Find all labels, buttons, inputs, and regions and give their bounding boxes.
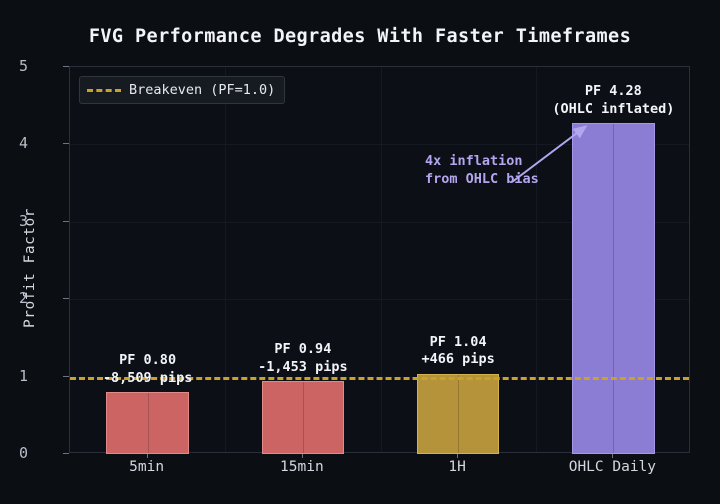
bar-label-pips: -1,453 pips <box>258 359 347 377</box>
bar-center-divider <box>303 382 304 453</box>
annotation-line-1: 4x inflation <box>425 152 539 170</box>
bar-label-5min: PF 0.80-8,509 pips <box>103 352 192 388</box>
bar-label-pips: +466 pips <box>422 351 495 369</box>
x-tick-label: 15min <box>280 459 324 475</box>
grid-line-vertical <box>536 67 537 452</box>
breakeven-line-swatch <box>87 89 121 92</box>
y-tick-label: 5 <box>0 57 28 75</box>
bar-15min[interactable] <box>262 381 344 454</box>
bar-center-divider <box>458 375 459 453</box>
annotation-ohlc-bias: 4x inflation from OHLC bias <box>425 152 539 188</box>
page-title: FVG Performance Degrades With Faster Tim… <box>0 26 720 47</box>
x-tick-label: 1H <box>448 459 465 475</box>
bar-label-15min: PF 0.94-1,453 pips <box>258 341 347 377</box>
plot-area: PF 0.80-8,509 pipsPF 0.94-1,453 pipsPF 1… <box>69 66 690 453</box>
bar-label-pips: -8,509 pips <box>103 370 192 388</box>
bar-center-divider <box>613 124 614 453</box>
bar-center-divider <box>148 393 149 453</box>
bar-label-pips: (OHLC inflated) <box>552 101 674 119</box>
bar-label-ohlc-daily: PF 4.28(OHLC inflated) <box>552 83 674 119</box>
bar-label-pf: PF 0.94 <box>258 341 347 359</box>
legend[interactable]: Breakeven (PF=1.0) <box>79 76 285 104</box>
y-tick-label: 2 <box>0 289 28 307</box>
y-tick-label: 3 <box>0 212 28 230</box>
grid-line-vertical <box>225 67 226 452</box>
grid-line-vertical <box>381 67 382 452</box>
y-tick-label: 1 <box>0 367 28 385</box>
bar-label-pf: PF 4.28 <box>552 83 674 101</box>
legend-item-breakeven: Breakeven (PF=1.0) <box>129 82 275 98</box>
y-tick-mark <box>63 453 69 454</box>
bar-1h[interactable] <box>417 374 499 454</box>
bar-label-pf: PF 1.04 <box>422 334 495 352</box>
bar-ohlc-daily[interactable] <box>572 123 654 454</box>
x-tick-label: OHLC Daily <box>569 459 656 475</box>
annotation-line-2: from OHLC bias <box>425 170 539 188</box>
x-tick-label: 5min <box>129 459 164 475</box>
y-tick-label: 0 <box>0 444 28 462</box>
y-tick-label: 4 <box>0 134 28 152</box>
bar-label-pf: PF 0.80 <box>103 352 192 370</box>
bar-label-1h: PF 1.04+466 pips <box>422 334 495 370</box>
y-axis-label: Profit Factor <box>22 168 38 368</box>
chart-figure: FVG Performance Degrades With Faster Tim… <box>0 0 720 504</box>
bar-5min[interactable] <box>106 392 188 454</box>
